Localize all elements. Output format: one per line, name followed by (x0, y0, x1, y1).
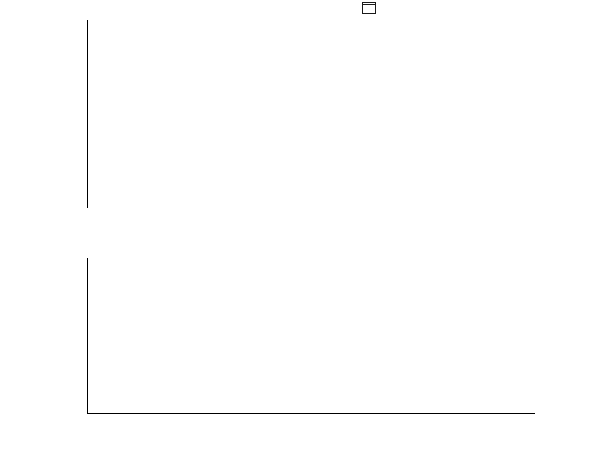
plot-area-top (88, 20, 535, 208)
line-chart-top (88, 20, 535, 208)
subplot-top (88, 20, 535, 208)
line-chart-bottom (88, 258, 535, 413)
subplot-bottom (88, 258, 535, 413)
legend-bottom[interactable] (362, 4, 376, 14)
figure-canvas (0, 0, 610, 460)
plot-area-bottom (88, 258, 535, 413)
